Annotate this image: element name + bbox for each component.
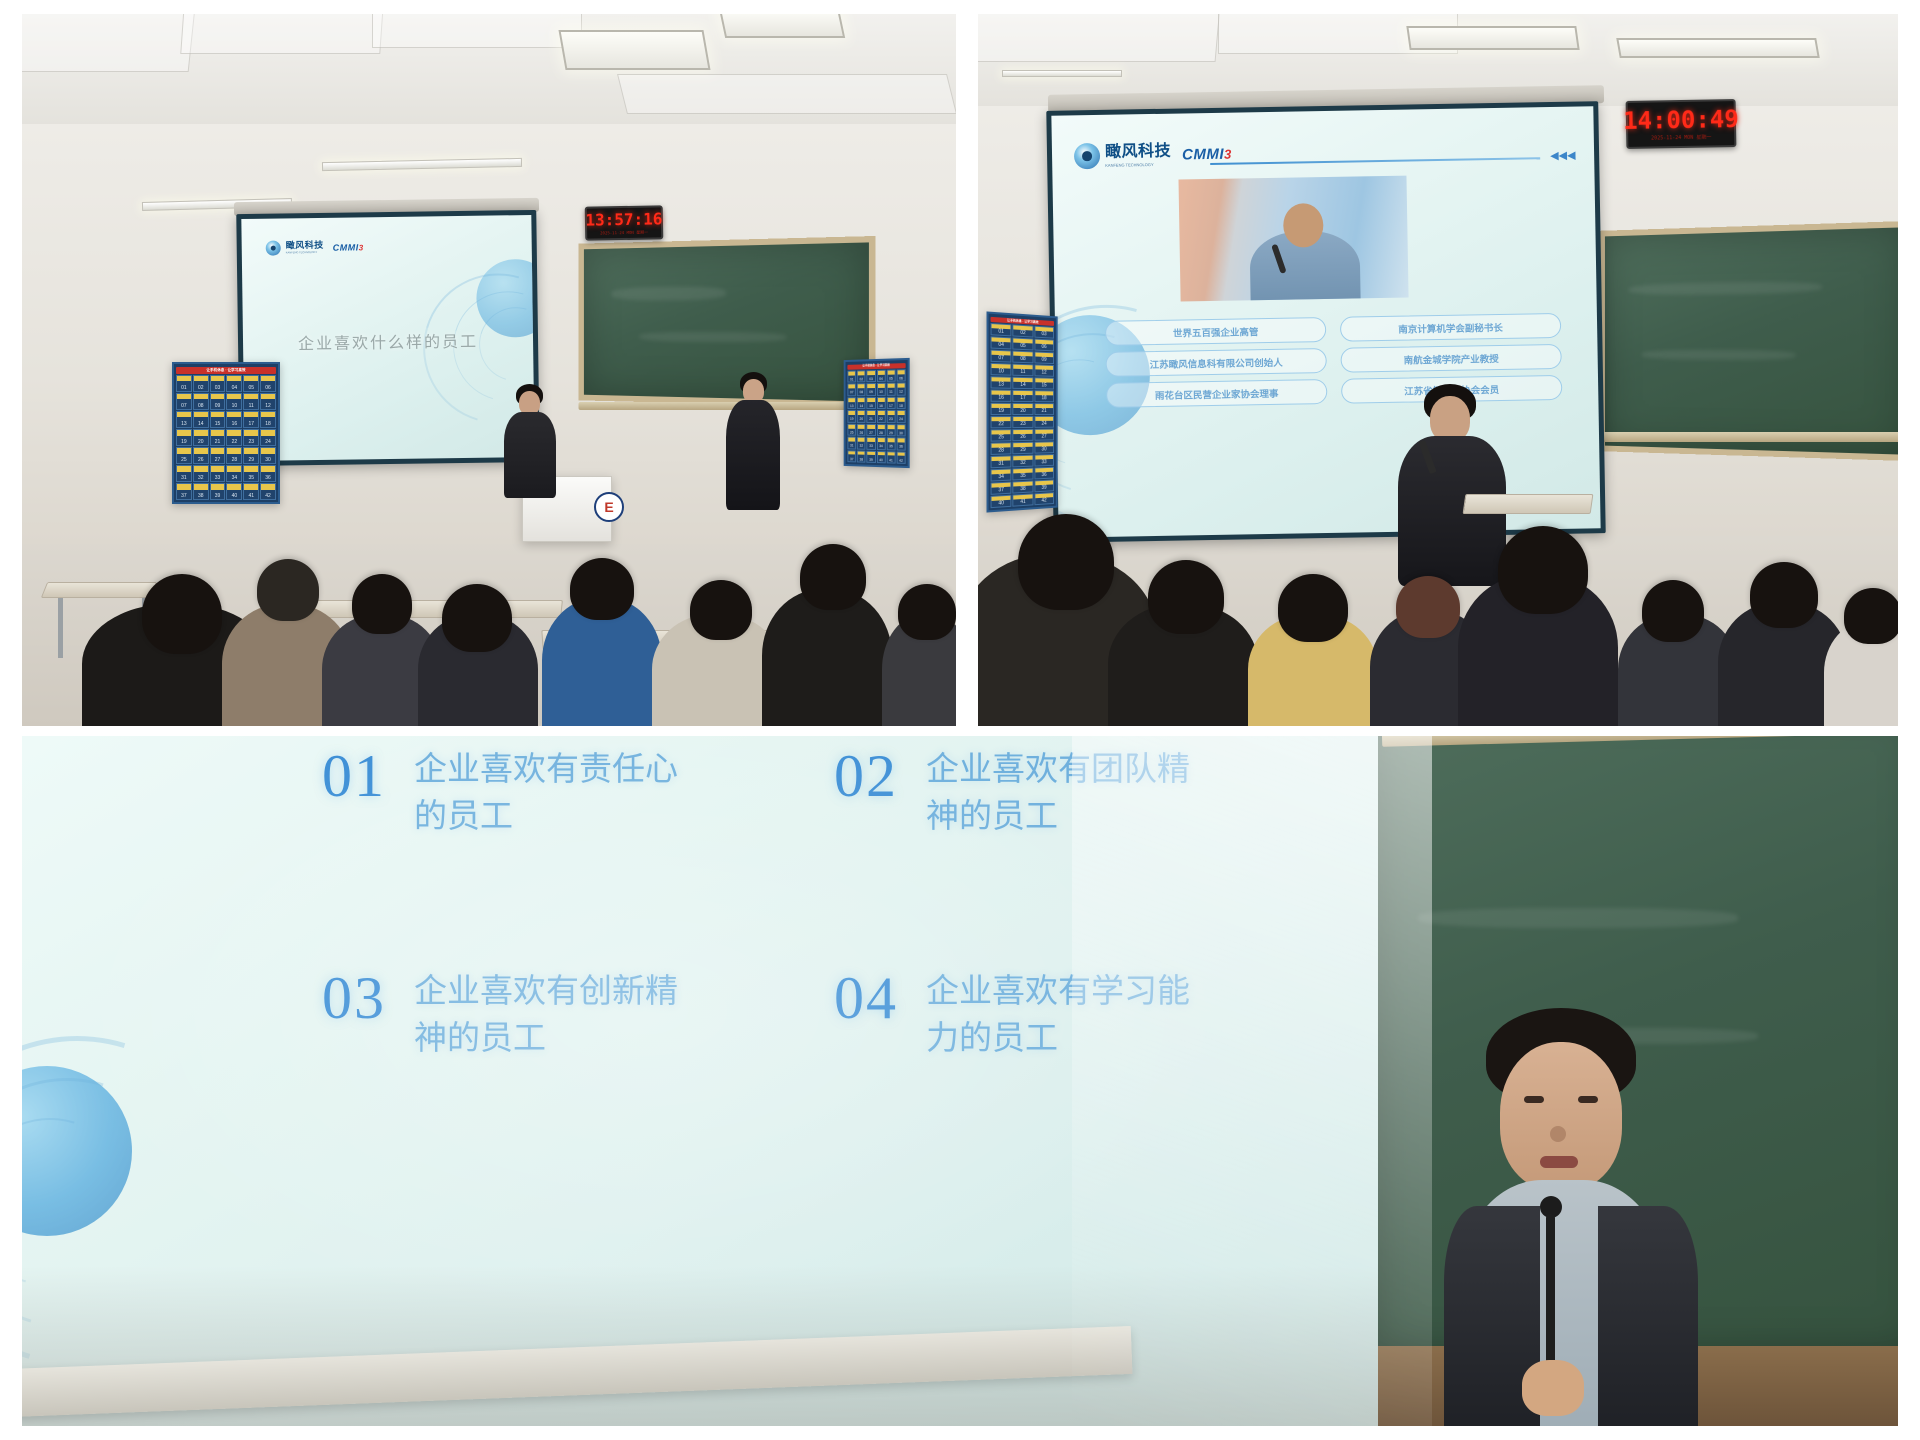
pocket-cell-number: 21 [869,418,873,421]
pocket-cell-number: 04 [998,343,1004,348]
pocket-chart-cell: 12 [1034,364,1054,376]
pocket-chart-cell: 06 [896,369,905,382]
pocket-cell-number: 13 [998,382,1004,387]
pocket-cell-number: 10 [232,404,238,409]
standing-host [722,372,784,522]
pocket-cell-number: 42 [899,459,903,463]
pocket-chart-cell: 14 [1013,377,1034,389]
pocket-chart-cell: 26 [857,423,866,435]
ceiling-tile [617,74,956,114]
slide-surface: 瞰风科技 KANFENG TECHNOLOGY CMMI3 ◀◀◀ 世界五百 [1051,106,1600,537]
pocket-cell-number: 42 [265,494,271,499]
pocket-cell-number: 34 [879,445,883,448]
pocket-chart-cell: 14 [193,411,209,428]
pocket-cell-number: 34 [998,475,1004,480]
pocket-chart-cell: 33 [210,465,226,482]
pocket-chart-row: 373839404142 [847,450,905,464]
clock-time: 13:57:16 [585,211,662,228]
pocket-chart-cell: 41 [886,451,895,464]
pocket-cell-number: 17 [248,422,254,427]
audience-head [1148,560,1224,634]
microphone-stem-icon [1546,1214,1555,1384]
pocket-chart-cell: 18 [1034,390,1054,402]
pocket-chart-row: 252627282930 [176,447,276,464]
pocket-chart-grid: 0102030405060708091011121314151617181920… [847,369,905,464]
pocket-chart-cell: 13 [176,411,192,428]
pocket-chart-row: 070809 [991,350,1054,365]
pocket-cell-number: 36 [265,476,271,481]
pocket-cell-number: 05 [889,377,893,381]
pocket-cell-number: 12 [1042,371,1047,376]
pocket-chart-row: 313233343536 [176,465,276,482]
pocket-cell-number: 15 [1042,383,1047,388]
slide-item: 01 企业喜欢有责任心的员工 [322,746,694,840]
pocket-cell-number: 37 [998,488,1004,493]
eye [1524,1096,1544,1103]
pocket-cell-number: 29 [1020,448,1025,453]
pocket-chart-cell: 26 [193,447,209,464]
pocket-chart-cell: 40 [991,495,1012,509]
pocket-chart-cell: 31 [847,437,856,449]
pocket-chart-cell: 04 [991,336,1012,349]
pocket-chart-cell: 39 [867,450,876,463]
pocket-cell-number: 22 [879,418,883,421]
pocket-chart-cell: 18 [260,411,276,428]
pocket-chart-cell: 25 [176,447,192,464]
pocket-cell-number: 19 [850,418,854,421]
clock-time: 14:00:49 [1623,106,1739,132]
pocket-chart-cell: 29 [243,447,259,464]
pocket-cell-number: 05 [248,386,254,391]
ceiling-tile [978,14,1220,62]
pocket-chart-cell: 42 [896,451,905,464]
pocket-cell-number: 14 [1020,383,1025,388]
pocket-chart-cell: 04 [877,369,886,382]
pocket-chart-cell: 30 [896,424,905,437]
pocket-chart-cell: 21 [867,410,876,422]
pocket-cell-number: 18 [899,405,903,408]
pocket-chart-cell: 01 [176,375,192,392]
pocket-cell-number: 12 [899,391,903,395]
pocket-cell-number: 03 [215,386,221,391]
brand-name-en: KANFENG TECHNOLOGY [286,252,324,255]
pocket-chart-cell: 24 [1034,416,1054,428]
pocket-cell-number: 24 [265,440,271,445]
pocket-chart-row: 161718 [991,389,1054,402]
pocket-cell-number: 18 [1042,396,1047,401]
pocket-chart-cell: 39 [1034,479,1054,492]
pocket-chart-cell: 13 [991,376,1012,389]
pocket-chart-row: 404142 [991,492,1054,508]
pocket-cell-number: 30 [899,432,903,436]
audience-head [800,544,866,610]
slide-item: 04 企业喜欢有学习能力的员工 [834,968,1206,1062]
pocket-chart-cell: 19 [991,403,1012,415]
pocket-cell-number: 22 [232,440,238,445]
pocket-cell-number: 40 [998,501,1004,506]
audience-head [1018,514,1114,610]
phone-pocket-chart: 让手机休息 · 让学习高效 01020304050607080910111213… [987,311,1058,512]
pocket-chart-row: 070809101112 [847,383,905,396]
pocket-chart-cell: 18 [896,396,905,409]
pocket-cell-number: 41 [248,494,254,499]
pocket-cell-number: 21 [1042,409,1047,414]
pocket-cell-number: 17 [889,405,893,408]
pocket-cell-number: 02 [1020,331,1025,336]
pocket-cell-number: 31 [850,445,854,448]
pocket-chart-cell: 30 [1034,441,1054,453]
slide-item-number: 01 [322,746,386,806]
pocket-chart-cell: 02 [193,375,209,392]
audience-head [442,584,512,652]
brand-name-cn: 瞰风科技 [286,241,324,251]
pocket-chart-cell: 36 [896,437,905,450]
slide-logo: 瞰风科技 KANFENG TECHNOLOGY CMMI3 [1074,141,1232,170]
pocket-cell-number: 36 [899,446,903,450]
pocket-cell-number: 02 [860,378,864,381]
pocket-chart-row: 070809101112 [176,393,276,410]
pocket-chart-cell: 03 [1034,326,1054,339]
pocket-cell-number: 38 [198,494,204,499]
pocket-cell-number: 06 [899,377,903,381]
clock-date: 2025-11-24 MON 星期一 [600,230,648,235]
pocket-chart-cell: 17 [1013,390,1034,402]
blackboard [1600,221,1898,461]
pocket-chart-cell: 11 [886,383,895,396]
nose [1550,1126,1566,1142]
pocket-cell-number: 30 [265,458,271,463]
pocket-chart-cell: 15 [1034,377,1054,389]
pocket-chart-cell: 23 [243,429,259,446]
pocket-chart-cell: 02 [1013,324,1034,337]
projected-slide: 01 企业喜欢有责任心的员工 02 企业喜欢有团队精神的员工 03 企业喜欢有创… [22,736,1408,1426]
eye [1578,1096,1598,1103]
pocket-chart-cell: 27 [1034,429,1054,441]
pocket-chart-cell: 37 [847,450,856,463]
pocket-cell-number: 19 [181,440,187,445]
pocket-chart-cell: 20 [1013,403,1034,415]
pocket-cell-number: 41 [1020,500,1025,505]
pocket-chart-cell: 12 [896,383,905,396]
pocket-cell-number: 14 [198,422,204,427]
pocket-cell-number: 32 [1020,461,1025,466]
nav-arrows-icon: ◀◀◀ [1550,151,1576,162]
credential-tag: 南航金城学院产业教授 [1340,344,1561,373]
pocket-chart-row: 252627 [991,429,1054,442]
pocket-cell-number: 13 [850,405,854,408]
pocket-chart-cell: 42 [1034,492,1054,505]
pocket-chart-cell: 11 [243,393,259,410]
student-desk [41,582,157,598]
audience-head [1750,562,1818,628]
audience-head [1844,588,1898,644]
pocket-cell-number: 18 [265,422,271,427]
photo-panel-lecture-hall-wide: 瞰风科技 KANFENG TECHNOLOGY CMMI3 企业喜欢什么样的员工… [22,14,956,726]
pocket-cell-number: 33 [869,445,873,448]
ceiling-light [1406,26,1579,50]
pocket-chart-cell: 19 [176,429,192,446]
pocket-cell-number: 22 [998,422,1004,427]
clock-date: 2025-11-24 MON 星期一 [1651,135,1711,141]
pocket-cell-number: 26 [860,431,864,434]
pocket-cell-number: 28 [232,458,238,463]
pocket-chart-cell: 29 [886,424,895,437]
pocket-cell-number: 01 [998,330,1004,335]
hand [1522,1360,1584,1416]
pocket-chart-cell: 11 [1013,364,1034,377]
pocket-chart-cell: 26 [1013,429,1034,441]
pocket-cell-number: 09 [1042,358,1047,363]
pocket-chart-cell: 23 [886,410,895,423]
credential-tag: 世界五百强企业高管 [1105,317,1326,346]
digital-wall-clock: 14:00:49 2025-11-24 MON 星期一 [1626,99,1737,149]
pocket-cell-number: 09 [869,391,873,394]
ceiling-tile [180,14,383,54]
brand-name-en: KANFENG TECHNOLOGY [1105,162,1171,167]
pocket-cell-number: 27 [1042,435,1047,440]
pocket-cell-number: 25 [181,458,187,463]
pocket-chart-cell: 28 [226,447,242,464]
pocket-cell-number: 33 [1042,460,1047,465]
projection-screen: 瞰风科技 KANFENG TECHNOLOGY CMMI3 ◀◀◀ 世界五百 [1046,101,1605,543]
pocket-cell-number: 06 [265,386,271,391]
desk-leg [58,598,63,658]
teacher-desk [1463,494,1594,514]
pocket-cell-number: 31 [998,462,1004,467]
pocket-chart-cell: 31 [991,455,1012,468]
pocket-chart-cell: 01 [847,370,856,382]
pocket-cell-number: 23 [889,418,893,421]
pocket-chart-cell: 13 [847,397,856,409]
pocket-chart-cell: 19 [847,410,856,422]
pocket-chart-cell: 32 [193,465,209,482]
pocket-cell-number: 39 [869,458,873,462]
pocket-cell-number: 07 [850,391,854,394]
pocket-cell-number: 07 [998,356,1004,361]
pocket-chart-cell: 03 [867,370,876,383]
pocket-chart-cell: 15 [210,411,226,428]
pocket-cell-number: 20 [198,440,204,445]
brand-name-cn: 瞰风科技 [1105,143,1171,160]
slide-title: 企业喜欢什么样的员工 [243,327,533,355]
vest-right [1598,1206,1698,1426]
pocket-chart-cell: 17 [886,396,895,409]
pocket-chart-cell: 10 [877,383,886,396]
pocket-chart-cell: 16 [877,396,886,409]
pocket-cell-number: 09 [215,404,221,409]
projection-screen: 瞰风科技 KANFENG TECHNOLOGY CMMI3 企业喜欢什么样的员工 [236,210,539,466]
pocket-cell-number: 25 [850,431,854,434]
pocket-chart-cell: 07 [176,393,192,410]
school-emblem-icon: E [594,492,624,522]
pocket-cell-number: 17 [1020,396,1025,401]
slide-item-number: 03 [322,968,386,1028]
pocket-chart-cell: 08 [1013,351,1034,364]
pocket-chart-row: 222324 [991,416,1054,428]
speaker-with-microphone [1398,384,1506,574]
pocket-chart-cell: 01 [991,323,1012,336]
pocket-cell-number: 01 [181,386,187,391]
pocket-chart-cell: 10 [991,363,1012,376]
pocket-chart-cell: 15 [867,397,876,410]
credential-tag: 江苏瞰风信息科有限公司创始人 [1105,348,1326,377]
pocket-cell-number: 16 [879,405,883,408]
pocket-cell-number: 06 [1042,345,1047,350]
pocket-chart-cell: 25 [991,429,1012,442]
header-divider [1210,157,1540,165]
brand-mark-icon [1074,143,1100,169]
pocket-chart-cell: 35 [886,437,895,450]
pocket-cell-number: 24 [1042,422,1047,427]
pocket-chart-cell: 27 [210,447,226,464]
pocket-cell-number: 40 [232,494,238,499]
pocket-chart-header: 让手机休息 · 让学习高效 [176,367,276,374]
pocket-chart-grid: 0102030405060708091011121314151617181920… [991,323,1054,508]
pocket-cell-number: 16 [232,422,238,427]
slide-item: 02 企业喜欢有团队精神的员工 [834,746,1206,840]
pocket-chart-cell: 23 [1013,416,1034,428]
pocket-chart-cell: 04 [226,375,242,392]
pocket-chart-cell: 38 [193,483,209,500]
cmmi-badge: CMMI3 [333,242,364,252]
pocket-cell-number: 28 [998,448,1004,453]
pocket-cell-number: 39 [215,494,221,499]
pocket-chart-cell: 25 [847,423,856,435]
pocket-cell-number: 08 [860,391,864,394]
pocket-cell-number: 37 [850,458,854,461]
pocket-cell-number: 20 [1020,409,1025,414]
pocket-cell-number: 42 [1042,499,1047,504]
pocket-chart-cell: 38 [1013,480,1034,493]
audience-head [690,580,752,640]
pocket-chart-cell: 40 [877,451,886,464]
speaker-at-lectern [500,384,560,514]
pocket-chart-cell: 27 [867,423,876,436]
pocket-chart-cell: 16 [226,411,242,428]
pocket-cell-number: 26 [198,458,204,463]
slide-item-text: 企业喜欢有责任心的员工 [414,746,694,840]
slide-item: 03 企业喜欢有创新精神的员工 [322,968,694,1062]
pocket-cell-number: 08 [198,404,204,409]
pocket-cell-number: 11 [249,404,254,409]
pocket-chart-row: 192021222324 [176,429,276,446]
pocket-chart-cell: 12 [260,393,276,410]
wall-tube-light [1002,70,1122,77]
pocket-chart-row: 131415 [991,376,1054,389]
pocket-chart-cell: 40 [226,483,242,500]
pocket-chart-cell: 22 [877,410,886,423]
pocket-cell-number: 14 [860,405,864,408]
pocket-cell-number: 32 [198,476,204,481]
pocket-cell-number: 40 [879,459,883,463]
pocket-cell-number: 29 [889,432,893,435]
pocket-chart-cell: 08 [857,383,866,395]
pocket-cell-number: 30 [1042,447,1047,452]
photo-panel-speaker-profile: 瞰风科技 KANFENG TECHNOLOGY CMMI3 ◀◀◀ 世界五百 [978,14,1898,726]
pocket-chart-cell: 22 [991,416,1012,428]
pocket-cell-number: 11 [889,391,892,394]
pocket-chart-cell: 08 [193,393,209,410]
pocket-chart-cell: 36 [260,465,276,482]
audience-head [352,574,412,634]
pocket-cell-number: 28 [879,432,883,435]
pocket-chart-cell: 06 [260,375,276,392]
pocket-cell-number: 10 [998,369,1004,374]
pocket-cell-number: 03 [869,378,873,381]
slide-speaker-photo [1178,176,1408,302]
pocket-cell-number: 27 [215,458,221,463]
pocket-cell-number: 36 [1042,473,1047,478]
audience-head [142,574,222,654]
pocket-cell-number: 32 [860,445,864,448]
pocket-cell-number: 31 [181,476,187,481]
pocket-cell-number: 15 [869,405,873,408]
slide-surface: 瞰风科技 KANFENG TECHNOLOGY CMMI3 企业喜欢什么样的员工 [241,215,534,461]
pocket-cell-number: 21 [215,440,221,445]
pocket-cell-number: 16 [998,396,1004,401]
pocket-chart-cell: 14 [857,397,866,409]
pocket-cell-number: 35 [248,476,254,481]
credential-tag: 南京计算机学会副秘书长 [1340,313,1561,342]
slide-item-number: 04 [834,968,898,1028]
pocket-chart-cell: 32 [1013,455,1034,468]
pocket-chart-cell: 37 [991,482,1012,495]
pocket-chart-cell: 35 [243,465,259,482]
pocket-cell-number: 41 [889,459,893,463]
ceiling-light [558,30,710,70]
pocket-cell-number: 34 [232,476,238,481]
pocket-cell-number: 19 [998,409,1004,414]
pocket-cell-number: 24 [899,418,903,421]
pocket-chart-cell: 20 [193,429,209,446]
pocket-cell-number: 08 [1020,357,1025,362]
pocket-chart-cell: 38 [857,450,866,463]
pocket-cell-number: 38 [1020,487,1025,492]
pocket-chart-cell: 03 [210,375,226,392]
pocket-chart-cell: 02 [857,370,866,383]
pocket-chart-cell: 36 [1034,467,1054,480]
photo-collage: 瞰风科技 KANFENG TECHNOLOGY CMMI3 企业喜欢什么样的员工… [0,0,1920,1440]
pocket-cell-number: 39 [1042,486,1047,491]
pocket-chart-cell: 30 [260,447,276,464]
pocket-chart-cell: 33 [867,437,876,450]
pocket-cell-number: 03 [1042,332,1047,337]
pocket-cell-number: 01 [850,378,854,381]
pocket-chart-row: 131415161718 [176,411,276,428]
pocket-cell-number: 27 [869,432,873,435]
pocket-chart-row: 313233343536 [847,437,905,451]
pocket-chart-cell: 37 [176,483,192,500]
audience-head [1498,526,1588,614]
pocket-chart-cell: 24 [896,410,905,423]
pocket-chart-cell: 05 [1013,337,1034,350]
pocket-chart-cell: 34 [877,437,886,450]
pocket-cell-number: 12 [265,404,271,409]
slide-item-text: 企业喜欢有创新精神的员工 [414,968,694,1062]
pocket-chart-row: 192021222324 [847,410,905,423]
pocket-chart-row: 192021 [991,403,1054,415]
pocket-chart-cell: 39 [210,483,226,500]
credential-tag: 雨花台区民营企业家协会理事 [1106,379,1327,408]
audience-head [898,584,956,640]
pocket-cell-number: 25 [998,435,1004,440]
pocket-cell-number: 07 [181,404,187,409]
brand-mark-icon [266,240,281,255]
ceiling-tile [22,14,195,72]
phone-pocket-chart: 让手机休息 · 让学习高效 01020304050607080910111213… [172,362,280,504]
audience-head [1642,580,1704,642]
slide-item-number: 02 [834,746,898,806]
